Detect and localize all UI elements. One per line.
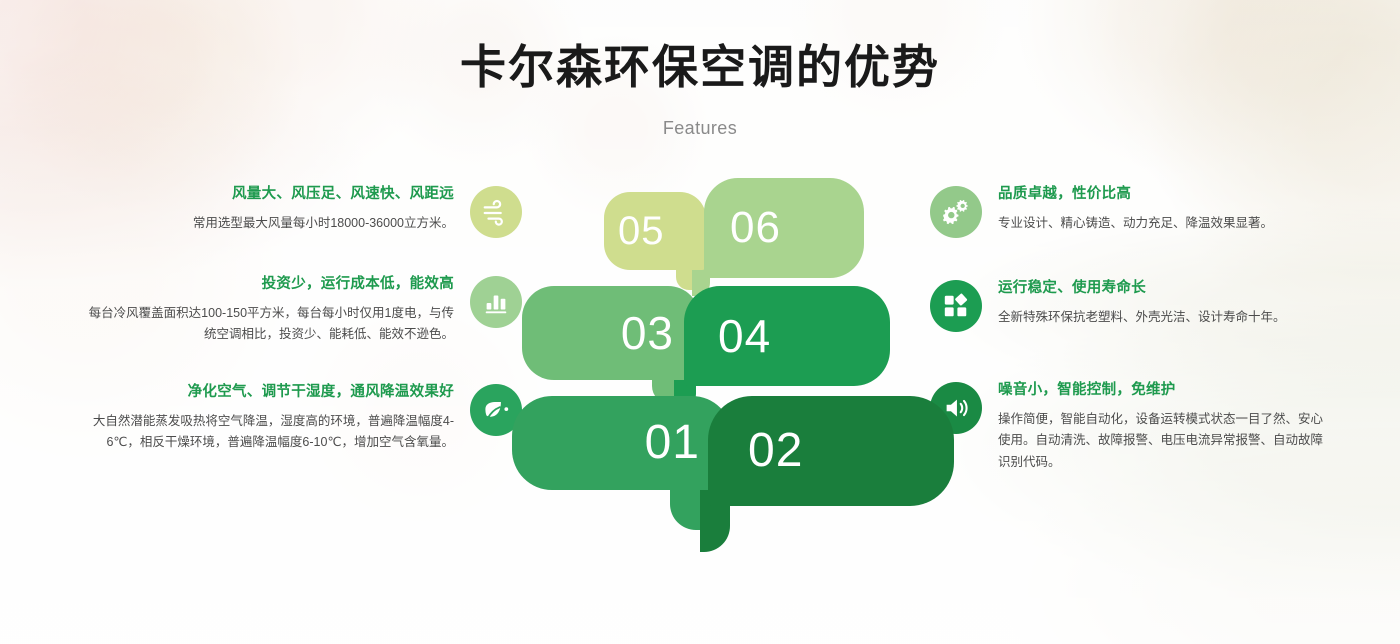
feature-text-01: 净化空气、调节干湿度，通风降温效果好 大自然潜能蒸发吸热将空气降温，湿度高的环境… bbox=[86, 382, 470, 454]
petal-06[interactable]: 06 bbox=[704, 178, 864, 278]
feature-item-06[interactable]: 品质卓越，性价比高 专业设计、精心铸造、动力充足、降温效果显著。 bbox=[930, 184, 1330, 238]
petal-05[interactable]: 05 bbox=[604, 192, 706, 270]
feature-desc-06: 专业设计、精心铸造、动力充足、降温效果显著。 bbox=[998, 213, 1330, 235]
petal-01[interactable]: 01 bbox=[512, 396, 732, 490]
features-right-column: 品质卓越，性价比高 专业设计、精心铸造、动力充足、降温效果显著。 运行稳定、使用… bbox=[930, 184, 1330, 473]
feature-title-02: 噪音小，智能控制，免维护 bbox=[998, 380, 1330, 402]
petal-02[interactable]: 02 bbox=[708, 396, 954, 506]
petal-04[interactable]: 04 bbox=[684, 286, 890, 386]
feature-item-04[interactable]: 运行稳定、使用寿命长 全新特殊环保抗老塑料、外壳光洁、设计寿命十年。 bbox=[930, 278, 1330, 332]
feature-title-06: 品质卓越，性价比高 bbox=[998, 184, 1330, 206]
feature-item-03[interactable]: 投资少，运行成本低，能效高 每台冷风覆盖面积达100-150平方米，每台每小时仅… bbox=[86, 274, 522, 346]
feature-desc-04: 全新特殊环保抗老塑料、外壳光洁、设计寿命十年。 bbox=[998, 307, 1330, 329]
header: 卡尔森环保空调的优势 Features bbox=[0, 44, 1400, 139]
feature-text-03: 投资少，运行成本低，能效高 每台冷风覆盖面积达100-150平方米，每台每小时仅… bbox=[86, 274, 470, 346]
feature-desc-01: 大自然潜能蒸发吸热将空气降温，湿度高的环境，普遍降温幅度4-6℃，相反干燥环境，… bbox=[86, 411, 454, 454]
feature-desc-05: 常用选型最大风量每小时18000-36000立方米。 bbox=[86, 213, 454, 235]
grid-squares-icon bbox=[930, 280, 982, 332]
infographic-canvas: 卡尔森环保空调的优势 Features 风量大、风压足、风速快、风距远 常用选型… bbox=[0, 0, 1400, 644]
feature-desc-03: 每台冷风覆盖面积达100-150平方米，每台每小时仅用1度电，与传统空调相比，投… bbox=[86, 303, 454, 346]
feature-text-06: 品质卓越，性价比高 专业设计、精心铸造、动力充足、降温效果显著。 bbox=[982, 184, 1330, 234]
leaf-number-cluster: 05 06 03 04 01 02 bbox=[512, 176, 892, 536]
page-subtitle: Features bbox=[0, 118, 1400, 139]
feature-title-04: 运行稳定、使用寿命长 bbox=[998, 278, 1330, 300]
petal-number-01: 01 bbox=[645, 419, 700, 467]
petal-number-04: 04 bbox=[718, 313, 771, 359]
feature-item-02[interactable]: 噪音小，智能控制，免维护 操作简便，智能自动化，设备运转模式状态一目了然、安心使… bbox=[930, 380, 1330, 473]
feature-text-04: 运行稳定、使用寿命长 全新特殊环保抗老塑料、外壳光洁、设计寿命十年。 bbox=[982, 278, 1330, 328]
petal-number-03: 03 bbox=[621, 310, 674, 356]
feature-title-05: 风量大、风压足、风速快、风距远 bbox=[86, 184, 454, 206]
feature-item-05[interactable]: 风量大、风压足、风速快、风距远 常用选型最大风量每小时18000-36000立方… bbox=[86, 184, 522, 238]
gears-icon bbox=[930, 186, 982, 238]
petal-03[interactable]: 03 bbox=[522, 286, 700, 380]
petal-number-06: 06 bbox=[730, 206, 781, 250]
feature-title-01: 净化空气、调节干湿度，通风降温效果好 bbox=[86, 382, 454, 404]
feature-item-01[interactable]: 净化空气、调节干湿度，通风降温效果好 大自然潜能蒸发吸热将空气降温，湿度高的环境… bbox=[86, 382, 522, 454]
petal-number-05: 05 bbox=[618, 211, 665, 251]
petal-number-02: 02 bbox=[748, 427, 803, 475]
feature-title-03: 投资少，运行成本低，能效高 bbox=[86, 274, 454, 296]
feature-desc-02: 操作简便，智能自动化，设备运转模式状态一目了然、安心使用。自动清洗、故障报警、电… bbox=[998, 409, 1330, 474]
feature-text-02: 噪音小，智能控制，免维护 操作简便，智能自动化，设备运转模式状态一目了然、安心使… bbox=[982, 380, 1330, 473]
page-title: 卡尔森环保空调的优势 bbox=[0, 44, 1400, 90]
feature-text-05: 风量大、风压足、风速快、风距远 常用选型最大风量每小时18000-36000立方… bbox=[86, 184, 470, 234]
features-left-column: 风量大、风压足、风速快、风距远 常用选型最大风量每小时18000-36000立方… bbox=[86, 184, 522, 454]
